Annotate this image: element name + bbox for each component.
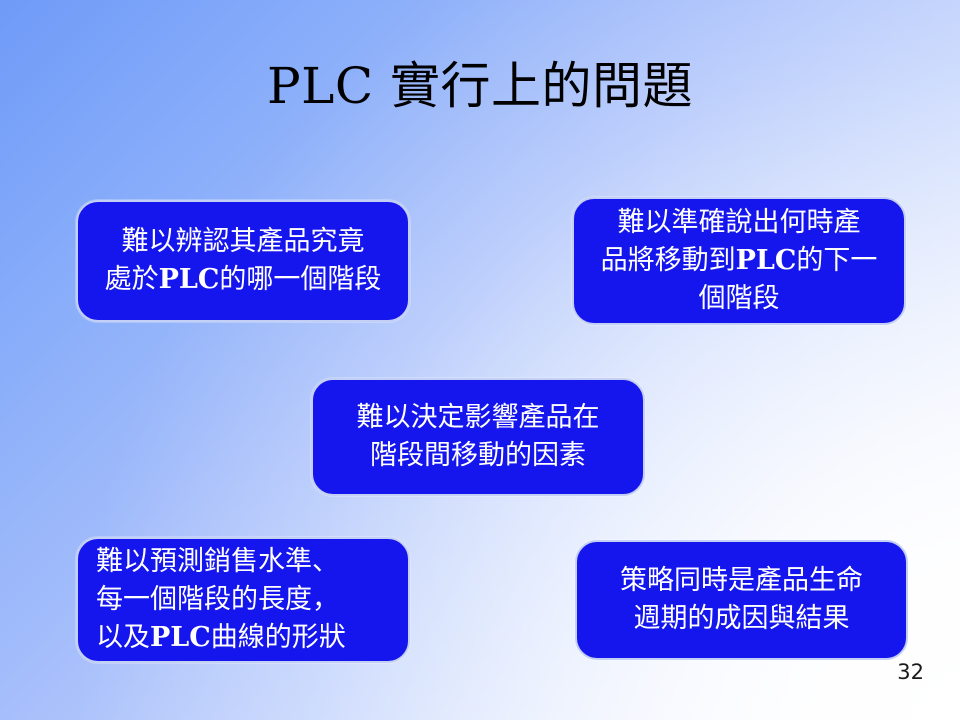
- problem-box-strategy-cause-effect: 策略同時是產品生命週期的成因與結果: [575, 540, 908, 660]
- problem-box-forecast-sales: 難以預測銷售水準、每一個階段的長度，以及PLC曲線的形狀: [76, 537, 410, 663]
- acronym-plc: PLC: [736, 245, 797, 276]
- box-text-run: 的下一: [796, 245, 877, 276]
- box-text-run: 品將移動到: [601, 245, 736, 276]
- slide-canvas: PLC 實行上的問題 難以辨認其產品究竟處於PLC的哪一個階段 難以準確說出何時…: [0, 0, 960, 720]
- box-text-run: 個階段: [699, 283, 780, 314]
- box-text-line: 個階段: [574, 280, 904, 318]
- box-text-run: 以及: [96, 622, 150, 653]
- box-text-line: 品將移動到PLC的下一: [574, 242, 904, 280]
- box-text-run: 策略同時是產品生命: [620, 565, 863, 596]
- box-text-run: 的哪一個階段: [219, 264, 381, 295]
- box-text-run: 難以預測銷售水準、: [96, 546, 339, 577]
- box-text-line: 難以辨認其產品究竟: [78, 223, 408, 261]
- acronym-plc: PLC: [150, 622, 211, 653]
- page-number: 32: [897, 660, 924, 684]
- box-text-run: 每一個階段的長度，: [96, 584, 339, 615]
- acronym-plc: PLC: [159, 264, 220, 295]
- box-text-line: 週期的成因與結果: [577, 600, 906, 638]
- box-text-run: 曲線的形狀: [211, 622, 346, 653]
- box-text-run: 難以決定影響產品在: [357, 402, 600, 433]
- box-text-run: 難以辨認其產品究竟: [122, 226, 365, 257]
- box-text-run: 週期的成因與結果: [634, 603, 850, 634]
- page-title: PLC 實行上的問題: [0, 56, 960, 116]
- box-text-line: 處於PLC的哪一個階段: [78, 261, 408, 299]
- box-text-run: 處於: [105, 264, 159, 295]
- box-text-line: 每一個階段的長度，: [96, 581, 408, 619]
- box-text-run: 難以準確說出何時產: [618, 207, 861, 238]
- problem-box-identify-stage: 難以辨認其產品究竟處於PLC的哪一個階段: [76, 200, 410, 322]
- box-text-line: 階段間移動的因素: [313, 437, 643, 475]
- box-text-line: 難以決定影響產品在: [313, 399, 643, 437]
- problem-box-determine-factors: 難以決定影響產品在階段間移動的因素: [311, 378, 645, 496]
- box-text-line: 難以預測銷售水準、: [96, 543, 408, 581]
- box-text-run: 階段間移動的因素: [370, 440, 586, 471]
- box-text-line: 以及PLC曲線的形狀: [96, 619, 408, 657]
- box-text-line: 難以準確說出何時產: [574, 204, 904, 242]
- box-text-line: 策略同時是產品生命: [577, 562, 906, 600]
- problem-box-predict-transition-timing: 難以準確說出何時產品將移動到PLC的下一個階段: [572, 197, 906, 325]
